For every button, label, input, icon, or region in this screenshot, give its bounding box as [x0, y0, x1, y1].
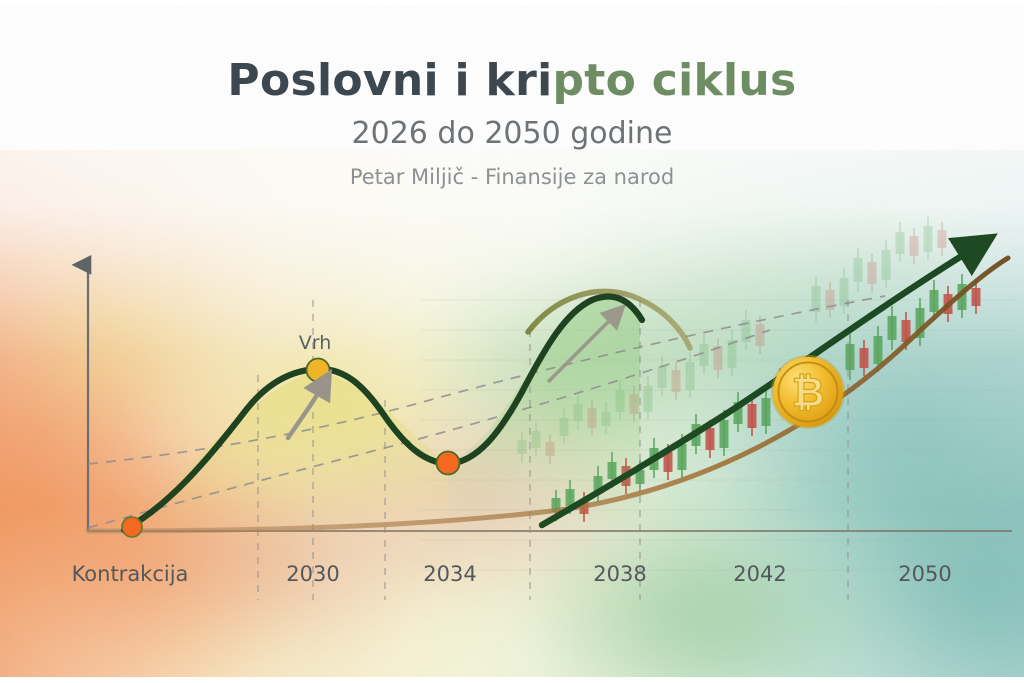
trough-marker	[437, 452, 460, 475]
cycle-fill-first	[128, 370, 448, 531]
x-axis-tick-5: 2050	[898, 562, 951, 586]
start-marker	[122, 517, 142, 537]
x-axis-tick-2: 2034	[423, 562, 476, 586]
cycle-fill-second	[448, 297, 640, 531]
x-axis-tick-0: Kontrakcija	[72, 562, 189, 586]
x-axis-tick-1: 2030	[286, 562, 339, 586]
x-axis-tick-labels: Kontrakcija20302034203820422050	[72, 562, 952, 586]
x-axis-tick-4: 2042	[733, 562, 786, 586]
peak-annotation-label: Vrh	[299, 332, 332, 354]
peak-marker	[307, 359, 330, 382]
bitcoin-symbol: ₿	[792, 370, 825, 416]
infographic-canvas: ₿ Vrh Kontrakcija20302034203820422050 Po…	[0, 0, 1024, 683]
bitcoin-coin: ₿	[771, 355, 845, 429]
plot-layer: ₿ Vrh Kontrakcija20302034203820422050	[0, 0, 1024, 683]
x-axis-tick-3: 2038	[593, 562, 646, 586]
